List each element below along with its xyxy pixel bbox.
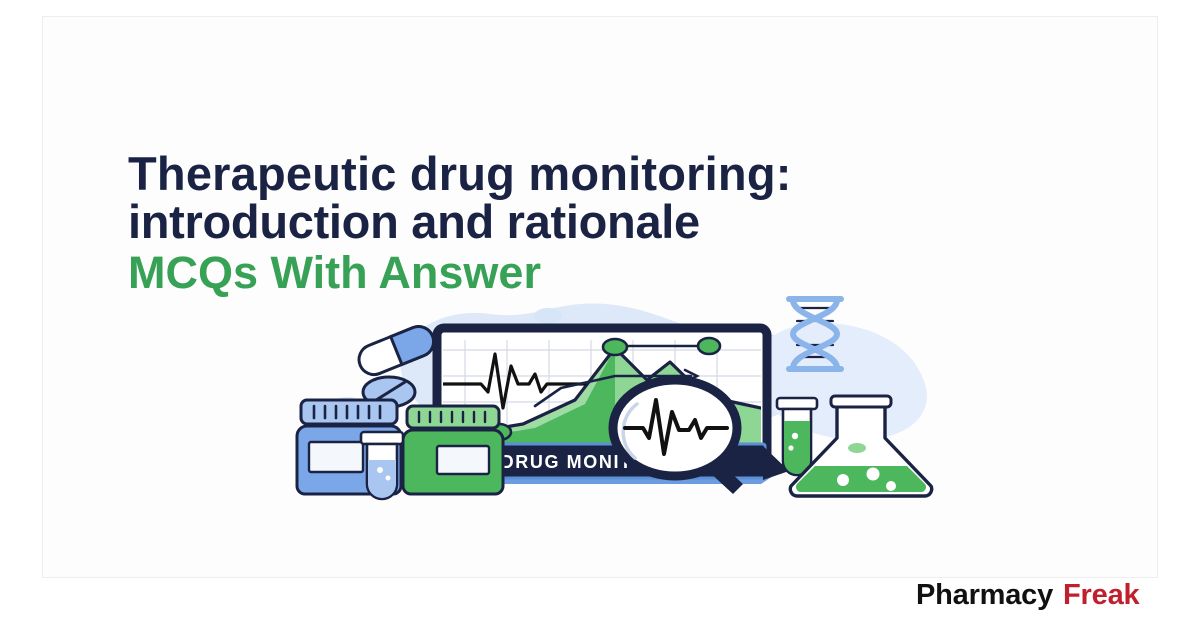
page-title-line2: introduction and rationale <box>128 198 1108 246</box>
slide-canvas: Therapeutic drug monitoring: introductio… <box>0 0 1200 628</box>
blue-test-tube <box>361 432 403 499</box>
brand-logo[interactable]: Pharmacy Freak <box>916 578 1139 612</box>
green-medicine-bottle <box>403 406 503 494</box>
drug-monitoring-illustration: DRUG MONITORING <box>285 288 945 508</box>
title-block: Therapeutic drug monitoring: introductio… <box>128 150 1108 300</box>
brand-logo-part2: Freak <box>1063 579 1139 612</box>
brand-logo-part1: Pharmacy <box>916 579 1053 612</box>
page-title-line1: Therapeutic drug monitoring: <box>128 150 1108 198</box>
